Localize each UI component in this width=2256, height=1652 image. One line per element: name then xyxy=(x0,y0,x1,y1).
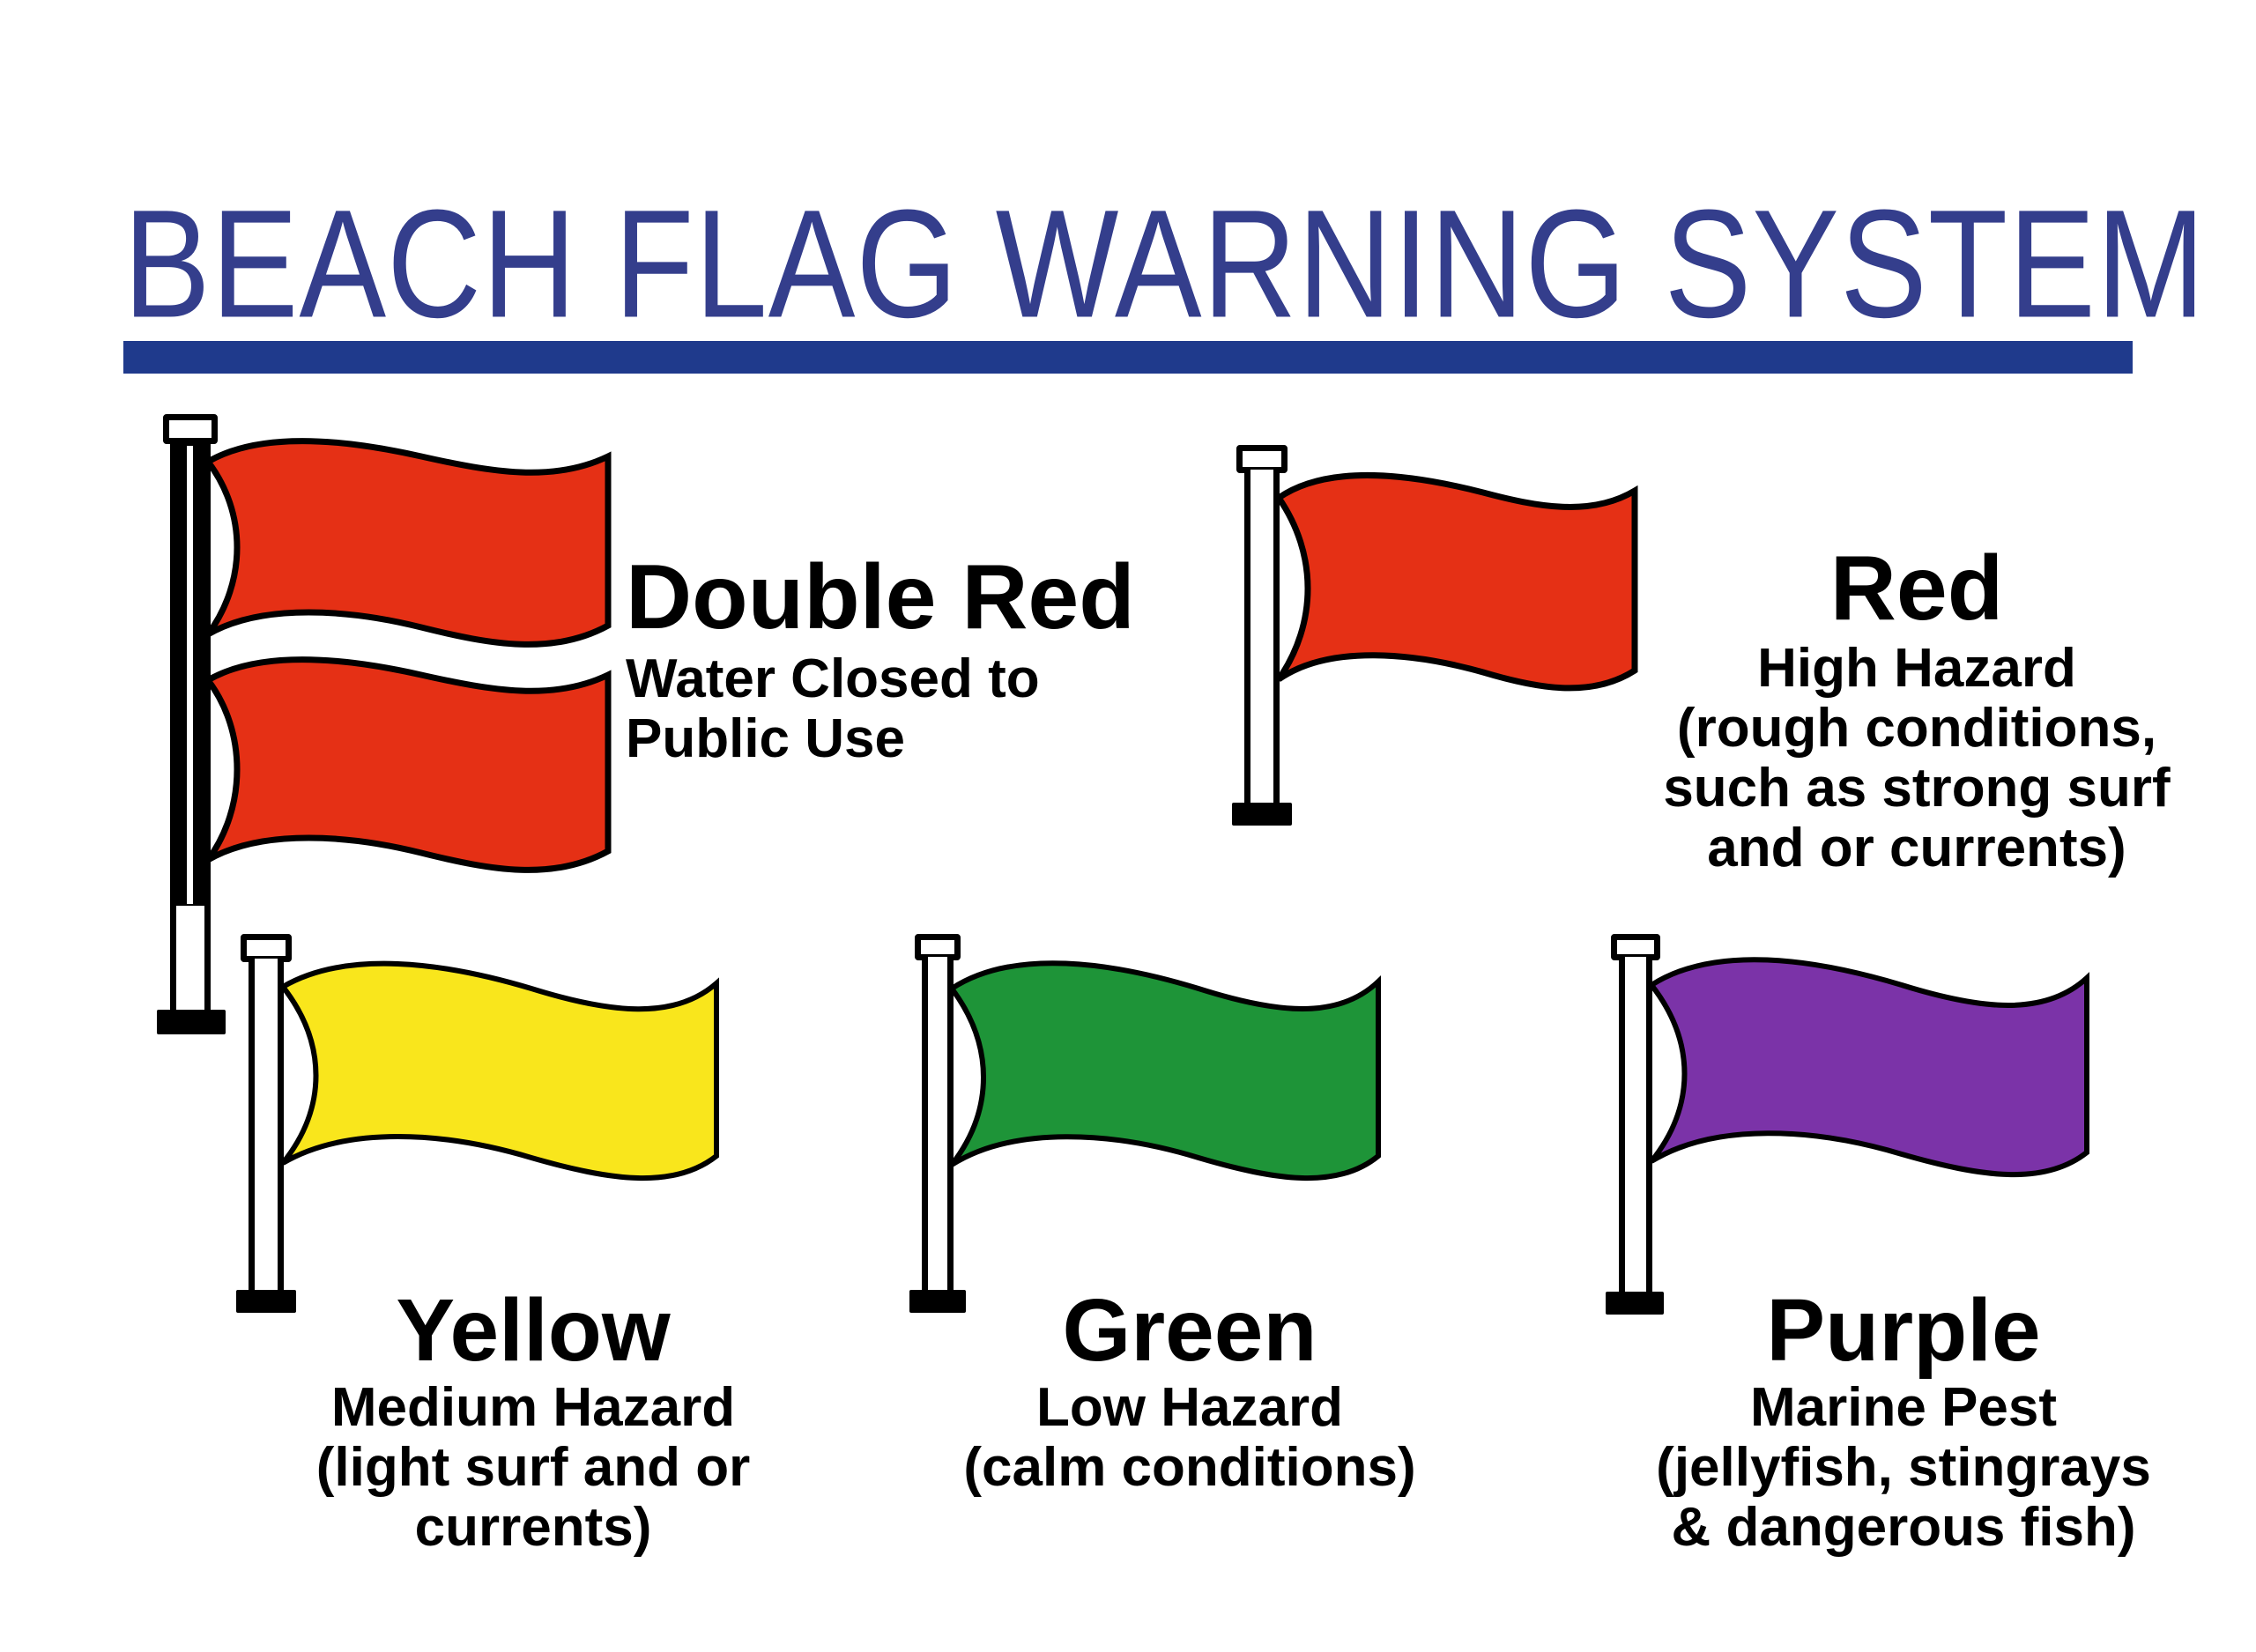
page-title: BEACH FLAG WARNING SYSTEM xyxy=(123,187,2133,343)
flag-card-green: Green Low Hazard (calm conditions) xyxy=(908,934,1366,1621)
flag-yellow xyxy=(276,948,725,1212)
desc-line: Water Closed to xyxy=(626,649,1234,709)
desc-line: & dangerous fish) xyxy=(1569,1498,2238,1558)
flag-label-desc-purple: Marine Pest (jellyfish, stingrays & dang… xyxy=(1569,1378,2238,1558)
flag-green xyxy=(945,946,1385,1211)
flag-card-yellow: Yellow Medium Hazard (light surf and or … xyxy=(234,934,692,1621)
flag-card-red: Red High Hazard (rough conditions, such … xyxy=(1229,445,1688,938)
desc-line: (light surf and or xyxy=(207,1438,859,1498)
desc-line: such as strong surf xyxy=(1644,759,2190,819)
desc-line: (rough conditions, xyxy=(1644,699,2190,759)
desc-line: Marine Pest xyxy=(1569,1378,2238,1438)
flag-double-red-lower xyxy=(201,634,615,899)
beach-flag-warning-poster: BEACH FLAG WARNING SYSTEM xyxy=(0,0,2256,1652)
flag-row-top: Double Red Water Closed to Public Use Re… xyxy=(0,414,2256,943)
flag-label-desc-double-red: Water Closed to Public Use xyxy=(626,649,1234,769)
flag-purple xyxy=(1644,943,2094,1207)
desc-line: High Hazard xyxy=(1644,639,2190,699)
flag-red xyxy=(1272,468,1642,723)
flag-label-desc-green: Low Hazard (calm conditions) xyxy=(872,1378,1507,1498)
desc-line: Public Use xyxy=(626,709,1234,769)
flagpole-highlight-stripe xyxy=(187,446,193,904)
poster-header: BEACH FLAG WARNING SYSTEM xyxy=(123,187,2133,354)
label-block-red: Red High Hazard (rough conditions, such … xyxy=(1644,542,2190,878)
label-block-double-red: Double Red Water Closed to Public Use xyxy=(626,551,1234,769)
flag-label-desc-red: High Hazard (rough conditions, such as s… xyxy=(1644,639,2190,878)
flag-label-name-purple: Purple xyxy=(1569,1285,2238,1376)
desc-line: Medium Hazard xyxy=(207,1378,859,1438)
desc-line: currents) xyxy=(207,1498,859,1558)
desc-line: Low Hazard xyxy=(872,1378,1507,1438)
flag-label-name-double-red: Double Red xyxy=(626,551,1234,644)
label-block-purple: Purple Marine Pest (jellyfish, stingrays… xyxy=(1569,1285,2238,1558)
flag-label-name-yellow: Yellow xyxy=(207,1285,859,1376)
label-block-yellow: Yellow Medium Hazard (light surf and or … xyxy=(207,1285,859,1558)
flag-row-bottom: Yellow Medium Hazard (light surf and or … xyxy=(0,934,2256,1639)
desc-line: and or currents) xyxy=(1644,819,2190,878)
flag-label-name-green: Green xyxy=(872,1285,1507,1376)
title-divider-bar xyxy=(123,341,2133,374)
flagpole-base xyxy=(1232,803,1292,826)
flag-label-name-red: Red xyxy=(1644,542,2190,635)
desc-line: (calm conditions) xyxy=(872,1438,1507,1498)
desc-line: (jellyfish, stingrays xyxy=(1569,1438,2238,1498)
flag-label-desc-yellow: Medium Hazard (light surf and or current… xyxy=(207,1378,859,1558)
flag-card-purple: Purple Marine Pest (jellyfish, stingrays… xyxy=(1604,934,2062,1621)
label-block-green: Green Low Hazard (calm conditions) xyxy=(872,1285,1507,1498)
